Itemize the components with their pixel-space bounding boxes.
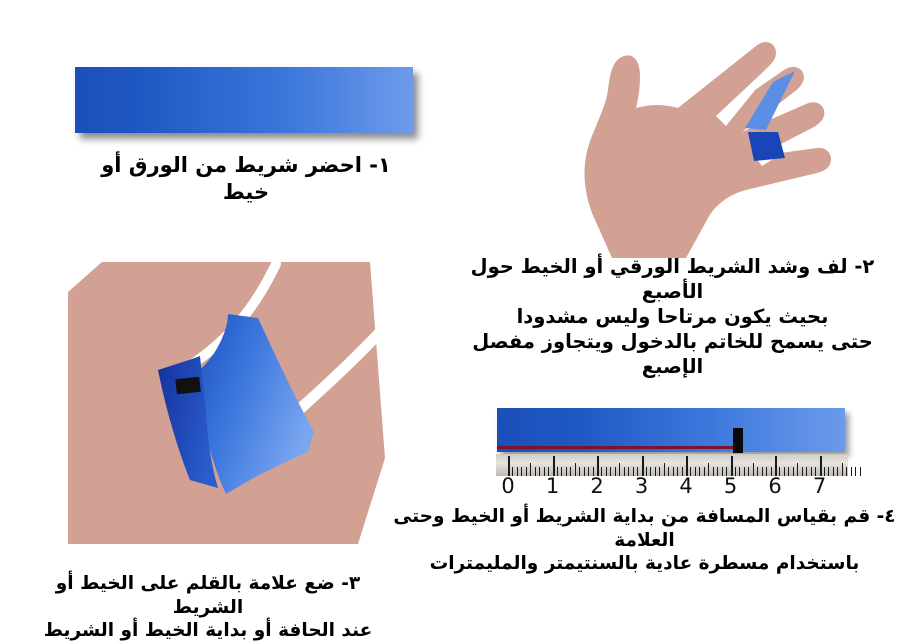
step-4-caption: ٤- قم بقياس المسافة من بداية الشريط أو ا…: [392, 505, 897, 576]
step-1-caption: ١- احضر شريط من الورق أو خيط: [78, 152, 414, 206]
ruler-number-2: 2: [590, 474, 603, 498]
ruler-tick-major: [731, 456, 733, 476]
ruler-illustration: 01234567: [488, 402, 860, 508]
pen-mark-on-strip: [733, 428, 743, 453]
ruler-ticks: [496, 454, 848, 476]
ruler-number-1: 1: [546, 474, 559, 498]
ruler-tick-minor: [855, 467, 856, 476]
ruler-tick-minor: [851, 467, 852, 476]
ruler-tick-major: [642, 456, 644, 476]
ruler-number-labels: 01234567: [496, 474, 848, 504]
ruler-tick-major: [775, 456, 777, 476]
measured-length-line: [497, 446, 733, 449]
ruler-number-4: 4: [679, 474, 692, 498]
ruler-tick-major: [686, 456, 688, 476]
finger-closeup-illustration: [40, 252, 392, 568]
illustration-page: ١- احضر شريط من الورق أو خيط ٢- لف وشد ا…: [0, 0, 916, 642]
pen-mark: [175, 377, 200, 394]
ruler-tick-major: [597, 456, 599, 476]
ruler-tick-major: [508, 456, 510, 476]
hand-illustration: [520, 8, 912, 258]
ruler-tick-major: [553, 456, 555, 476]
ruler-number-5: 5: [724, 474, 737, 498]
ruler-number-6: 6: [768, 474, 781, 498]
finger-closeup-svg: [40, 252, 392, 568]
paper-strip-illustration: [75, 67, 413, 133]
ruler-tick-major: [820, 456, 822, 476]
ruler-number-7: 7: [813, 474, 826, 498]
hand-svg: [520, 8, 912, 258]
ruler-tick-minor: [860, 467, 861, 476]
step-3-caption: ٣- ضع علامة بالقلم على الخيط أو الشريط ع…: [28, 572, 388, 643]
step-2-caption: ٢- لف وشد الشريط الورقي أو الخيط حول الأ…: [445, 255, 900, 380]
hand-shape: [585, 42, 832, 258]
ruler-number-3: 3: [635, 474, 648, 498]
ruler-number-0: 0: [501, 474, 514, 498]
